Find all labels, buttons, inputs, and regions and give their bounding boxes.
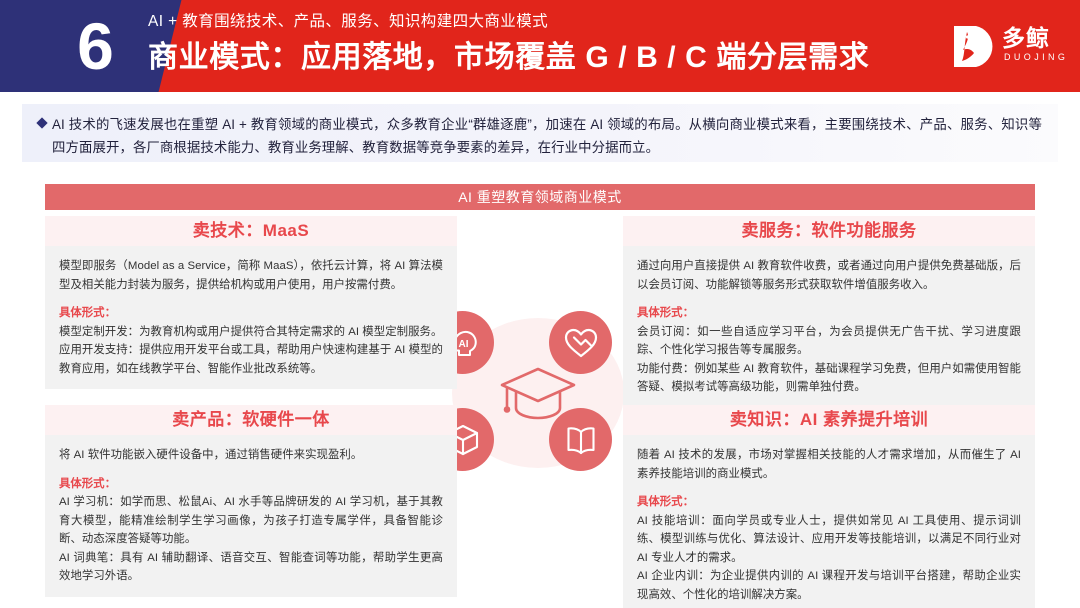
card-body-knowledge: 随着 AI 技术的发展，市场对掌握相关技能的人才需求增加，从而催生了 AI 素养… — [623, 435, 1035, 608]
intro-text: AI 技术的飞速发展也在重塑 AI + 教育领域的商业模式，众多教育企业“群雄逐… — [52, 113, 1042, 159]
card-lead-service: 通过向用户直接提供 AI 教育软件收费，或者通过向用户提供免费基础版，后以会员订… — [637, 257, 1021, 294]
card-title-knowledge: 卖知识：AI 素养提升培训 — [623, 405, 1035, 435]
slide-root: 6 AI + 教育围绕技术、产品、服务、知识构建四大商业模式 商业模式：应用落地… — [0, 0, 1080, 608]
card-subhead-knowledge: 具体形式： — [637, 493, 1021, 512]
slide-header: 6 AI + 教育围绕技术、产品、服务、知识构建四大商业模式 商业模式：应用落地… — [0, 0, 1080, 92]
card-line-service-0: 会员订阅：如一些自适应学习平台，为会员提供无广告干扰、学习进度跟踪、个性化学习报… — [637, 323, 1021, 360]
card-body-product: 将 AI 软件功能嵌入硬件设备中，通过销售硬件来实现盈利。 具体形式： AI 学… — [45, 435, 457, 597]
card-sell-service: 卖服务：软件功能服务 通过向用户直接提供 AI 教育软件收费，或者通过向用户提供… — [623, 216, 1035, 408]
card-title-service: 卖服务：软件功能服务 — [623, 216, 1035, 246]
card-title-product: 卖产品：软硬件一体 — [45, 405, 457, 435]
svg-text:AI: AI — [458, 339, 468, 350]
card-title-maas: 卖技术：MaaS — [45, 216, 457, 246]
whale-logo-icon — [952, 24, 997, 69]
card-line-maas-0: 模型定制开发：为教育机构或用户提供符合其特定需求的 AI 模型定制服务。 — [59, 323, 443, 342]
card-line-knowledge-0: AI 技能培训：面向学员或专业人士，提供如常见 AI 工具使用、提示词训练、模型… — [637, 512, 1021, 568]
card-line-maas-1: 应用开发支持：提供应用开发平台或工具，帮助用户快速构建基于 AI 模型的教育应用… — [59, 341, 443, 378]
header-subtitle: AI + 教育围绕技术、产品、服务、知识构建四大商业模式 — [148, 10, 869, 34]
graduation-cap-icon — [496, 362, 580, 424]
brand-logo: 多鲸 DUOJING — [952, 24, 1064, 72]
card-line-product-1: AI 词典笔：具有 AI 辅助翻译、语音交互、智能查词等功能，帮助学生更高效地学… — [59, 549, 443, 586]
card-sell-knowledge: 卖知识：AI 素养提升培训 随着 AI 技术的发展，市场对掌握相关技能的人才需求… — [623, 405, 1035, 608]
card-body-maas: 模型即服务（Model as a Service，简称 MaaS），依托云计算，… — [45, 246, 457, 389]
card-line-product-0: AI 学习机：如学而思、松鼠Ai、AI 水手等品牌研发的 AI 学习机，基于其教… — [59, 493, 443, 549]
card-lead-product: 将 AI 软件功能嵌入硬件设备中，通过销售硬件来实现盈利。 — [59, 446, 443, 465]
card-body-service: 通过向用户直接提供 AI 教育软件收费，或者通过向用户提供免费基础版，后以会员订… — [623, 246, 1035, 408]
card-sell-technology: 卖技术：MaaS 模型即服务（Model as a Service，简称 Maa… — [45, 216, 457, 389]
brand-name-cn: 多鲸 — [1002, 25, 1050, 51]
page-title: 商业模式：应用落地，市场覆盖 G / B / C 端分层需求 — [148, 34, 869, 82]
bullet-diamond-icon — [36, 117, 47, 128]
card-line-service-1: 功能付费：例如某些 AI 教育软件，基础课程学习免费，但用户如需使用智能答疑、模… — [637, 360, 1021, 397]
brand-name-en: DUOJING — [1004, 52, 1068, 63]
card-subhead-service: 具体形式： — [637, 304, 1021, 323]
open-book-glyph — [565, 424, 597, 456]
card-subhead-maas: 具体形式： — [59, 304, 443, 323]
card-sell-product: 卖产品：软硬件一体 将 AI 软件功能嵌入硬件设备中，通过销售硬件来实现盈利。 … — [45, 405, 457, 597]
intro-panel: AI 技术的飞速发展也在重塑 AI + 教育领域的商业模式，众多教育企业“群雄逐… — [22, 104, 1058, 162]
card-lead-maas: 模型即服务（Model as a Service，简称 MaaS），依托云计算，… — [59, 257, 443, 294]
section-number: 6 — [40, 0, 150, 92]
card-lead-knowledge: 随着 AI 技术的发展，市场对掌握相关技能的人才需求增加，从而催生了 AI 素养… — [637, 446, 1021, 483]
heart-link-glyph — [564, 327, 598, 359]
card-line-knowledge-1: AI 企业内训：为企业提供内训的 AI 课程开发与培训平台搭建，帮助企业实现高效… — [637, 567, 1021, 604]
section-band-title: AI 重塑教育领域商业模式 — [45, 184, 1035, 210]
header-text-group: AI + 教育围绕技术、产品、服务、知识构建四大商业模式 商业模式：应用落地，市… — [148, 10, 869, 82]
card-subhead-product: 具体形式： — [59, 475, 443, 494]
